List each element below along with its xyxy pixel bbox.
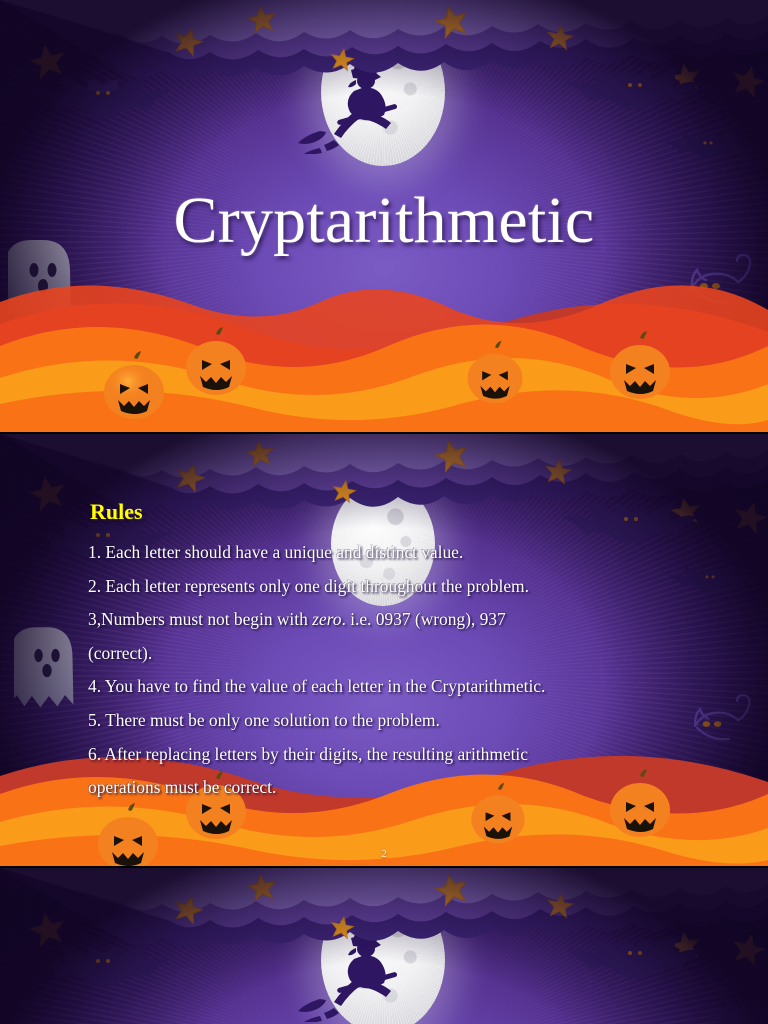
rule-item: 5. There must be only one solution to th… <box>88 704 708 738</box>
rule-item: 6. After replacing letters by their digi… <box>88 738 708 772</box>
rule-item: 2. Each letter represents only one digit… <box>88 570 708 604</box>
rule-item: operations must be correct. <box>88 771 708 805</box>
rule-3-emphasis: zero <box>312 609 341 629</box>
slide-1[interactable]: Cryptarithmetic <box>0 0 768 432</box>
pumpkin-icon-3 <box>462 340 528 406</box>
slide-2[interactable]: Rules 1. Each letter should have a uniqu… <box>0 434 768 866</box>
page-number: 2 <box>0 848 768 860</box>
rule-item: 3,Numbers must not begin with zero. i.e.… <box>88 603 708 637</box>
rule-3-prefix: 3,Numbers must not begin with <box>88 609 312 629</box>
rule-item: 4. You have to find the value of each le… <box>88 670 708 704</box>
pumpkin-icon-2 <box>180 326 252 398</box>
rules-list: 1. Each letter should have a unique and … <box>88 536 708 805</box>
rule-item: 1. Each letter should have a unique and … <box>88 536 708 570</box>
slide-1-title: Cryptarithmetic <box>0 183 768 259</box>
sky-vignette-3 <box>0 868 768 1024</box>
rule-3-suffix: . i.e. 0937 (wrong), 937 <box>341 609 505 629</box>
rule-item: (correct). <box>88 637 708 671</box>
rules-heading: Rules <box>90 499 143 525</box>
pumpkin-icon-4 <box>604 330 676 402</box>
pumpkin-icon-1 <box>98 350 170 422</box>
slide-document: Cryptarithmetic <box>0 0 768 1024</box>
slide-3[interactable] <box>0 868 768 1024</box>
